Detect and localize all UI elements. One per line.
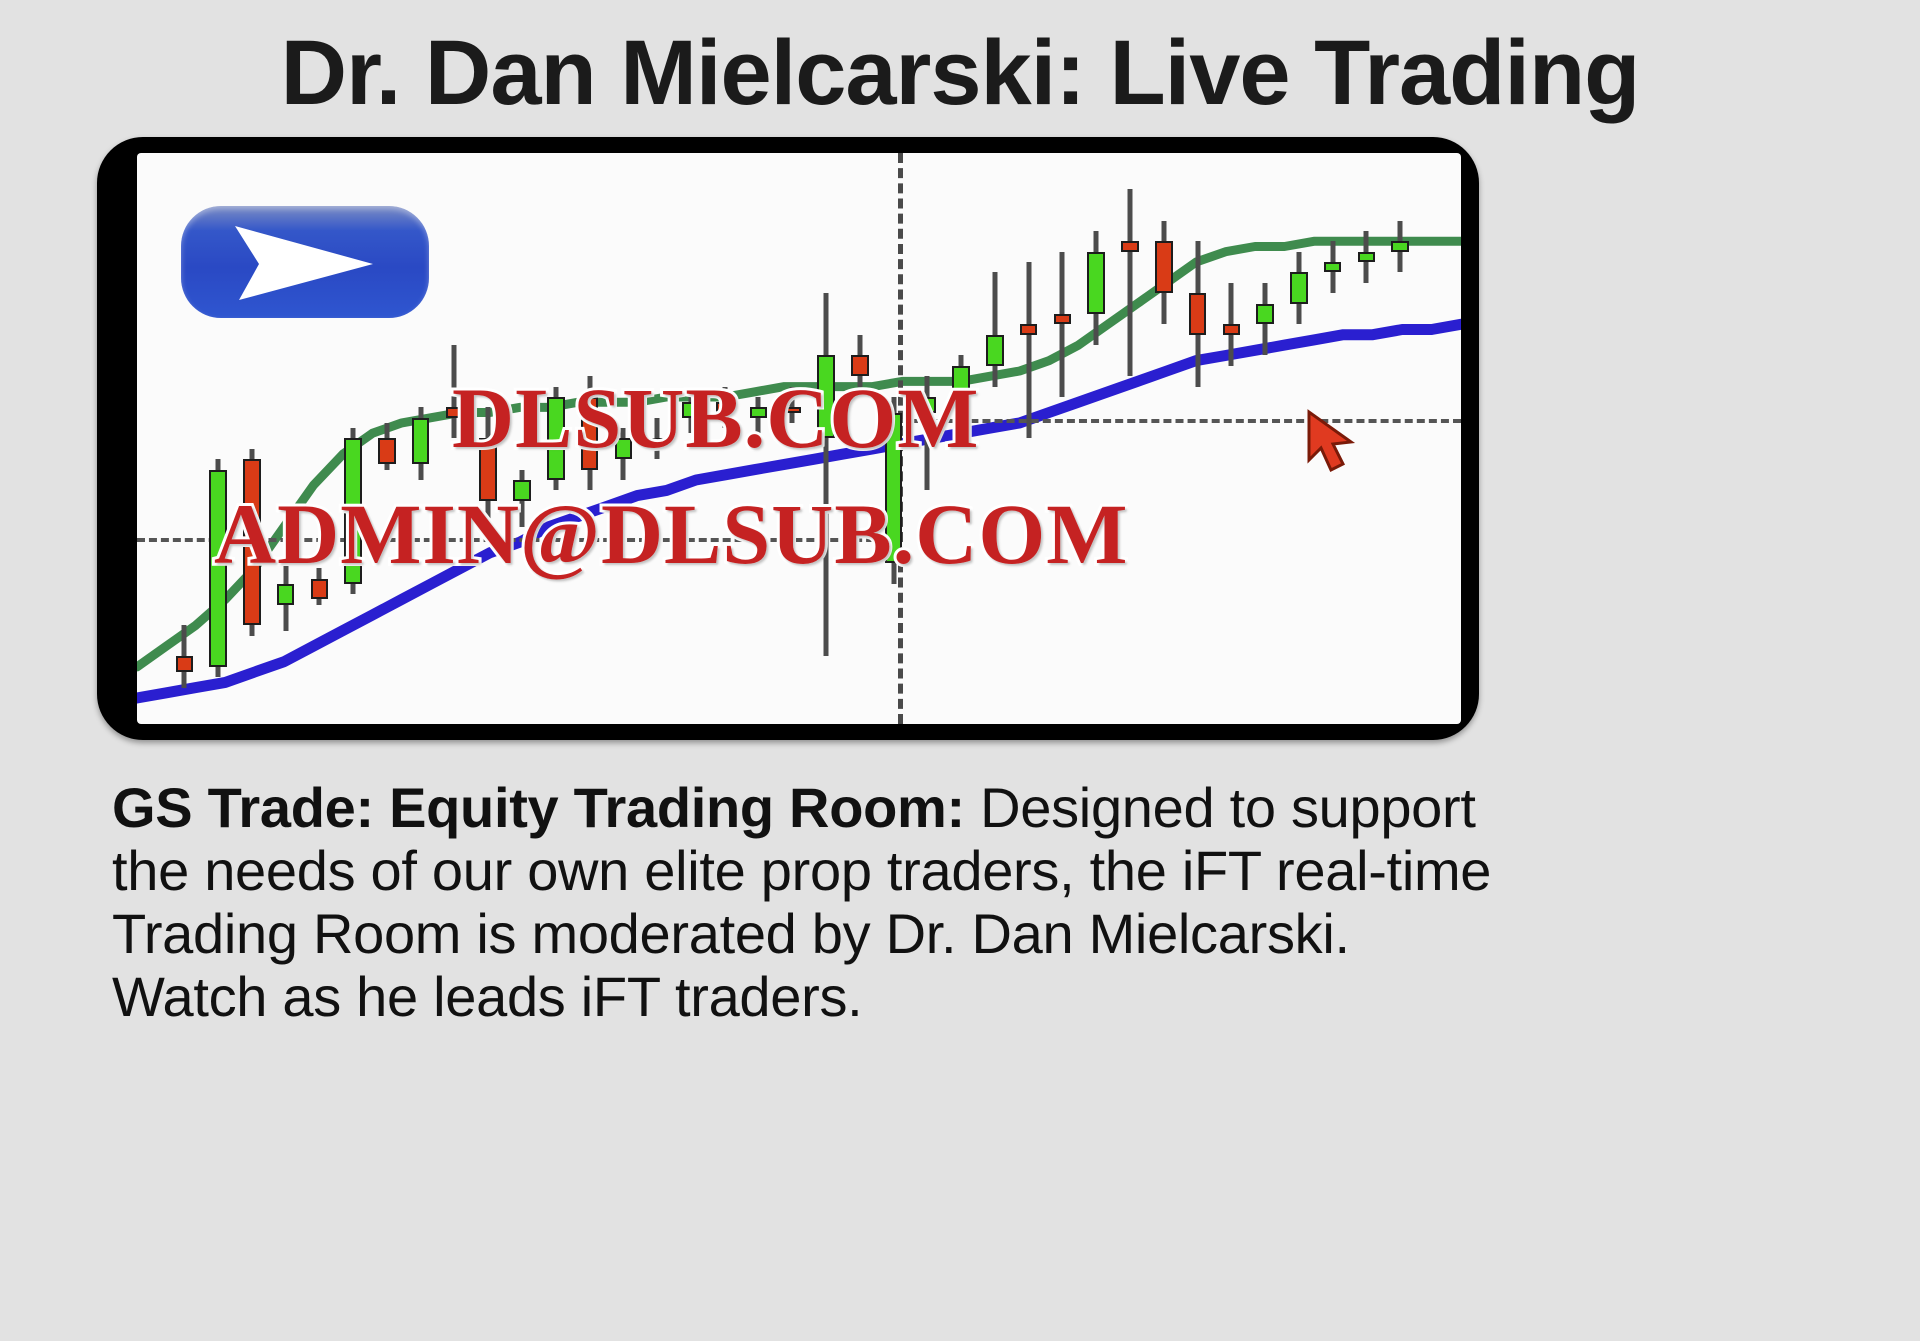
candle-body — [1087, 252, 1105, 314]
candle-wick — [1026, 262, 1031, 438]
candle-body — [176, 656, 194, 672]
candle-wick — [1060, 252, 1065, 397]
candle-body — [277, 584, 295, 605]
candlestick — [1358, 231, 1376, 283]
description-text: GS Trade: Equity Trading Room: Designed … — [112, 776, 1512, 1028]
cursor-glyph — [1305, 408, 1375, 476]
candle-body — [1121, 241, 1139, 251]
candlestick — [1189, 241, 1207, 386]
candlestick — [1020, 262, 1038, 438]
promo-card: Dr. Dan Mielcarski: Live Trading — [0, 0, 1920, 1341]
candlestick — [986, 272, 1004, 386]
candlestick — [1324, 241, 1342, 293]
candle-body — [986, 335, 1004, 366]
candlestick — [378, 423, 396, 470]
candle-body — [1256, 304, 1274, 325]
candle-body — [1358, 252, 1376, 262]
candle-body — [412, 418, 430, 465]
candle-body — [1290, 272, 1308, 303]
candlestick — [412, 407, 430, 480]
candlestick — [1087, 231, 1105, 345]
candle-body — [1391, 241, 1409, 251]
mouse-cursor-icon — [1305, 408, 1375, 481]
candlestick — [1155, 221, 1173, 325]
play-arrow-icon[interactable] — [181, 206, 429, 318]
candle-body — [1189, 293, 1207, 335]
candle-body — [1054, 314, 1072, 324]
candle-body — [1020, 324, 1038, 334]
candle-body — [1155, 241, 1173, 293]
watermark-line-1: DLSUB.COM — [452, 370, 979, 466]
candlestick — [1223, 283, 1241, 366]
candlestick — [1054, 252, 1072, 397]
candlestick — [817, 293, 835, 656]
candlestick — [1256, 283, 1274, 356]
candle-wick — [824, 293, 829, 656]
candle-body — [378, 438, 396, 464]
candlestick — [1121, 189, 1139, 376]
description-lead: GS Trade: Equity Trading Room: — [112, 776, 965, 839]
candle-body — [1223, 324, 1241, 334]
horizontal-gridline — [898, 419, 1461, 423]
candlestick — [1290, 252, 1308, 325]
play-arrow-glyph — [229, 222, 379, 304]
candle-wick — [1127, 189, 1132, 376]
candlestick — [1391, 221, 1409, 273]
page-title: Dr. Dan Mielcarski: Live Trading — [0, 18, 1920, 128]
candlestick — [176, 625, 194, 687]
candle-body — [1324, 262, 1342, 272]
watermark-line-2: ADMIN@DLSUB.COM — [214, 486, 1128, 582]
candle-wick — [992, 272, 997, 386]
